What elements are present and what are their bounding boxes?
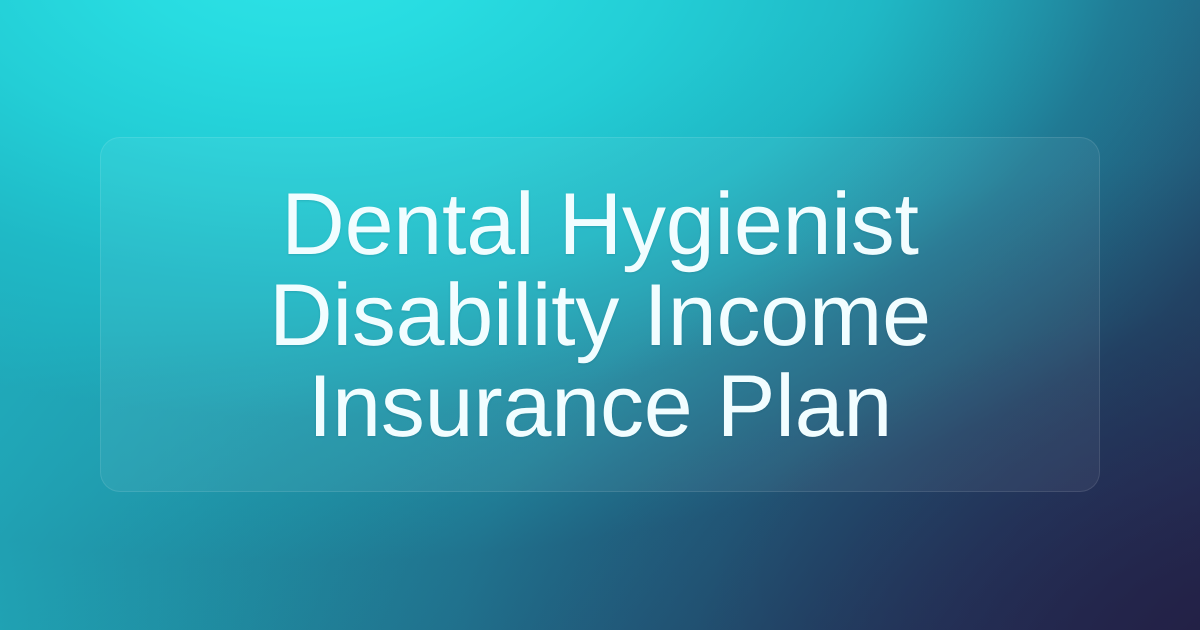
og-card-canvas: Dental Hygienist Disability Income Insur… [0,0,1200,630]
hero-title: Dental Hygienist Disability Income Insur… [101,178,1099,451]
hero-card-panel: Dental Hygienist Disability Income Insur… [100,137,1100,492]
